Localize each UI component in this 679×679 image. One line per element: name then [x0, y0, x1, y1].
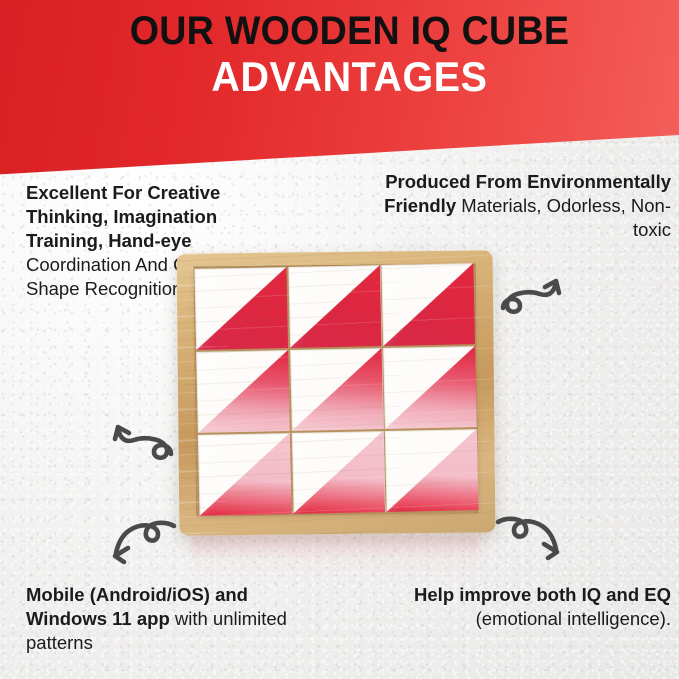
puzzle-tile: [288, 265, 382, 348]
puzzle-tile: [198, 433, 292, 516]
page-title-line1: OUR WOODEN IQ CUBE: [30, 10, 668, 52]
product-reflection-tint: [192, 536, 480, 582]
tile-sheen: [198, 433, 292, 516]
tile-sheen: [381, 263, 475, 346]
tile-triangle: [290, 348, 384, 431]
tile-triangle: [194, 267, 288, 350]
curly-arrow-icon-app: [104, 512, 182, 568]
puzzle-tile: [383, 346, 477, 429]
tile-grid: [194, 263, 478, 516]
infographic-poster: OUR WOODEN IQ CUBE ADVANTAGES Excellent …: [0, 0, 679, 679]
tile-triangle: [288, 265, 382, 348]
tile-triangle: [196, 350, 290, 433]
tile-triangle: [291, 431, 385, 514]
tile-sheen: [383, 346, 477, 429]
header-title-group: OUR WOODEN IQ CUBE ADVANTAGES: [10, 10, 679, 100]
frame-inner-well: [194, 264, 479, 517]
puzzle-tile: [196, 350, 290, 433]
tile-sheen: [194, 267, 288, 350]
tile-triangle: [198, 433, 292, 516]
puzzle-tile: [194, 267, 288, 350]
puzzle-tile: [290, 348, 384, 431]
wooden-frame: [177, 250, 496, 535]
callout-app: Mobile (Android/iOS) and Windows 11 app …: [26, 583, 326, 655]
tile-sheen: [288, 265, 382, 348]
tile-triangle: [381, 263, 475, 346]
puzzle-tile: [385, 429, 479, 512]
curly-arrow-icon-eco: [498, 276, 570, 328]
tile-triangle: [385, 429, 479, 512]
tile-sheen: [385, 429, 479, 512]
tile-triangle: [383, 346, 477, 429]
tile-sheen: [196, 350, 290, 433]
callout-iq-bold: Help improve both IQ and EQ: [414, 584, 671, 605]
callout-iq-regular: (emotional intelligence).: [476, 608, 671, 629]
callout-creative-bold: Excellent For Creative Thinking, Imagina…: [26, 182, 220, 251]
page-title-line2: ADVANTAGES: [30, 54, 668, 99]
curly-arrow-icon-creative: [104, 422, 176, 474]
callout-eco-regular: Materials, Odorless, Non-toxic: [461, 195, 671, 240]
callout-iq: Help improve both IQ and EQ (emotional i…: [411, 583, 671, 631]
curly-arrow-icon-iq: [490, 508, 568, 564]
tile-sheen: [290, 348, 384, 431]
tile-sheen: [291, 431, 385, 514]
puzzle-tile: [381, 263, 475, 346]
callout-eco: Produced From Environmentally Friendly M…: [381, 170, 671, 242]
product-image-wooden-iq-cube: [178, 252, 498, 552]
puzzle-tile: [291, 431, 385, 514]
